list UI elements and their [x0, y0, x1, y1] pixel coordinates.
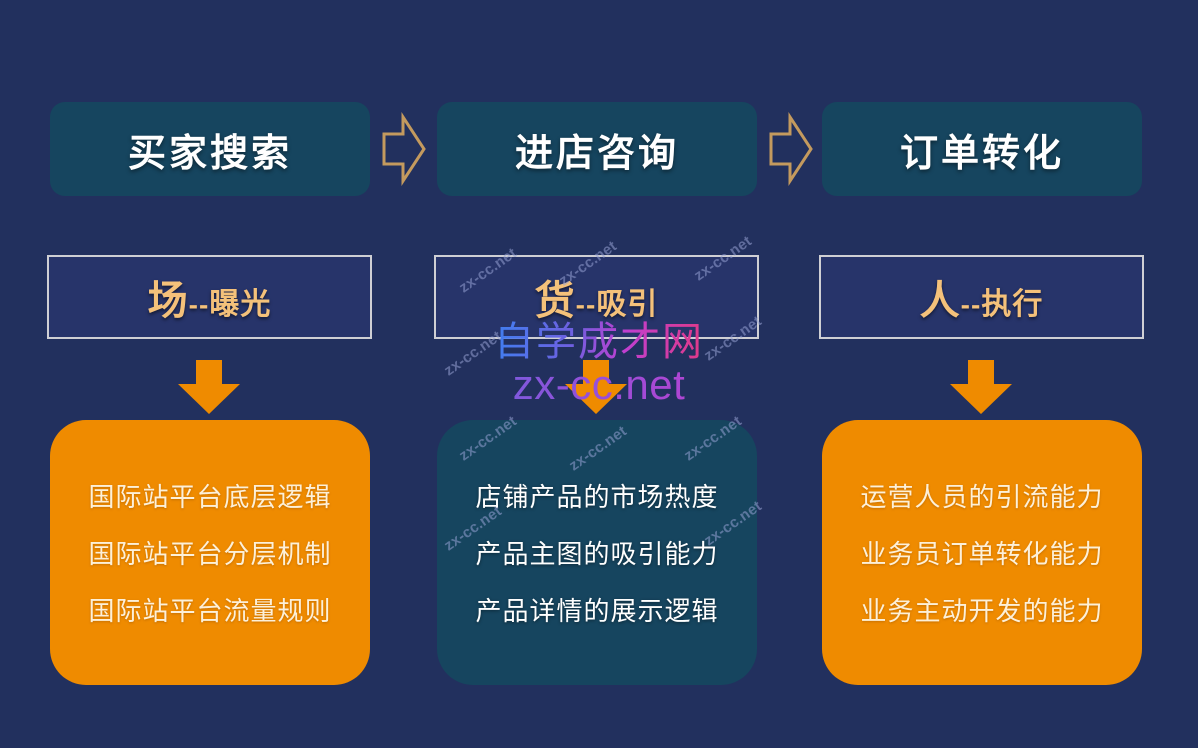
pillar-key: 货: [535, 279, 576, 323]
detail-line: 业务员订单转化能力: [860, 534, 1103, 571]
stage-label: 买家搜索: [128, 122, 292, 177]
detail-line: 运营人员的引流能力: [860, 477, 1103, 514]
detail-box-people[interactable]: 运营人员的引流能力 业务员订单转化能力 业务主动开发的能力: [822, 420, 1142, 685]
pillar-label: 货--吸引: [535, 268, 659, 326]
arrow-down-solid-icon: [174, 358, 244, 416]
pillar-sub: 曝光: [209, 288, 271, 321]
arrow-right-outline-icon: [381, 112, 427, 186]
arrow-down-solid-icon: [561, 358, 631, 416]
pillar-box-people-execution[interactable]: 人--执行: [819, 255, 1144, 339]
detail-line: 国际站平台流量规则: [88, 591, 331, 628]
pillar-key: 人: [920, 279, 961, 323]
pillar-sub: 执行: [981, 288, 1043, 321]
stage-label: 订单转化: [900, 122, 1064, 177]
detail-line: 产品详情的展示逻辑: [475, 591, 718, 628]
detail-box-place[interactable]: 国际站平台底层逻辑 国际站平台分层机制 国际站平台流量规则: [50, 420, 370, 685]
stage-label: 进店咨询: [515, 122, 679, 177]
detail-line: 国际站平台分层机制: [88, 534, 331, 571]
arrow-down-solid-icon: [946, 358, 1016, 416]
pillar-key: 场: [148, 279, 189, 323]
pillar-separator: --: [961, 289, 982, 320]
detail-line: 业务主动开发的能力: [860, 591, 1103, 628]
stage-box-order-conversion[interactable]: 订单转化: [822, 102, 1142, 196]
pillar-box-place-exposure[interactable]: 场--曝光: [47, 255, 372, 339]
detail-box-goods[interactable]: 店铺产品的市场热度 产品主图的吸引能力 产品详情的展示逻辑: [437, 420, 757, 685]
pillar-label: 场--曝光: [148, 268, 272, 326]
slide-canvas: 买家搜索 进店咨询 订单转化 场--曝光 货--吸引 人--执行: [0, 0, 1198, 748]
stage-box-store-inquiry[interactable]: 进店咨询: [437, 102, 757, 196]
detail-line: 店铺产品的市场热度: [475, 477, 718, 514]
detail-line: 国际站平台底层逻辑: [88, 477, 331, 514]
arrow-right-outline-icon: [768, 112, 814, 186]
pillar-separator: --: [189, 289, 210, 320]
pillar-separator: --: [576, 289, 597, 320]
pillar-sub: 吸引: [596, 288, 658, 321]
pillar-box-goods-attraction[interactable]: 货--吸引: [434, 255, 759, 339]
detail-line: 产品主图的吸引能力: [475, 534, 718, 571]
pillar-label: 人--执行: [920, 268, 1044, 326]
stage-box-buyer-search[interactable]: 买家搜索: [50, 102, 370, 196]
